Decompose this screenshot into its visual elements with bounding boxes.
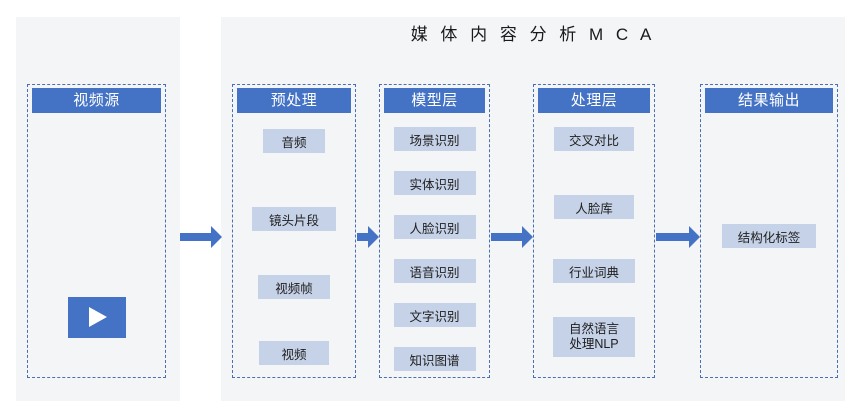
chip-preprocess-video[interactable]: 视频 <box>259 341 329 365</box>
play-triangle-icon <box>89 307 107 327</box>
stage-video-source[interactable]: 视频源 <box>27 84 166 378</box>
page-title: 媒 体 内 容 分 析 M C A <box>221 20 845 45</box>
stage-header-video-source: 视频源 <box>32 88 161 113</box>
chip-process-nlp-line2: 处理NLP <box>569 337 618 352</box>
arrow-head-icon <box>522 226 533 248</box>
chip-preprocess-audio[interactable]: 音频 <box>263 129 325 153</box>
stage-preprocessing[interactable]: 预处理 音频 镜头片段 视频帧 视频 <box>232 84 356 378</box>
arrow-head-icon <box>211 226 222 248</box>
chip-model-text-recognition[interactable]: 文字识别 <box>394 303 476 327</box>
play-icon[interactable] <box>68 297 126 338</box>
diagram-canvas: 媒 体 内 容 分 析 M C A 视频源 预处理 音频 镜头片段 视频帧 视频… <box>0 0 859 411</box>
chip-process-nlp-line1: 自然语言 <box>569 322 619 337</box>
arrow-model-to-process <box>491 226 533 248</box>
stage-model-layer[interactable]: 模型层 场景识别 实体识别 人脸识别 语音识别 文字识别 知识图谱 <box>379 84 490 378</box>
stage-header-preprocessing: 预处理 <box>237 88 351 113</box>
chip-preprocess-shot-clip[interactable]: 镜头片段 <box>252 207 336 231</box>
arrow-head-icon <box>368 226 379 248</box>
stage-result-output[interactable]: 结果输出 结构化标签 <box>700 84 838 378</box>
arrow-source-to-preprocess <box>180 226 222 248</box>
stage-header-result-output: 结果输出 <box>705 88 833 113</box>
arrow-preprocess-to-model <box>357 226 379 248</box>
chip-model-face-recognition[interactable]: 人脸识别 <box>394 215 476 239</box>
chip-model-speech-recognition[interactable]: 语音识别 <box>394 259 476 283</box>
stage-header-model-layer: 模型层 <box>384 88 485 113</box>
chip-process-face-database[interactable]: 人脸库 <box>554 195 634 219</box>
arrow-shaft <box>180 233 211 241</box>
arrow-shaft <box>656 233 689 241</box>
chip-process-nlp[interactable]: 自然语言 处理NLP <box>553 317 635 357</box>
stage-header-processing-layer: 处理层 <box>538 88 650 113</box>
chip-model-scene-recognition[interactable]: 场景识别 <box>394 127 476 151</box>
arrow-process-to-output <box>656 226 700 248</box>
arrow-shaft <box>357 233 368 241</box>
chip-process-industry-lexicon[interactable]: 行业词典 <box>553 259 635 283</box>
chip-model-entity-recognition[interactable]: 实体识别 <box>394 171 476 195</box>
arrow-shaft <box>491 233 522 241</box>
chip-model-knowledge-graph[interactable]: 知识图谱 <box>394 347 476 371</box>
stage-processing-layer[interactable]: 处理层 交叉对比 人脸库 行业词典 自然语言 处理NLP <box>533 84 655 378</box>
chip-output-structured-tags[interactable]: 结构化标签 <box>722 224 816 248</box>
arrow-head-icon <box>689 226 700 248</box>
chip-preprocess-video-frame[interactable]: 视频帧 <box>258 275 330 299</box>
chip-process-cross-comparison[interactable]: 交叉对比 <box>554 127 634 151</box>
